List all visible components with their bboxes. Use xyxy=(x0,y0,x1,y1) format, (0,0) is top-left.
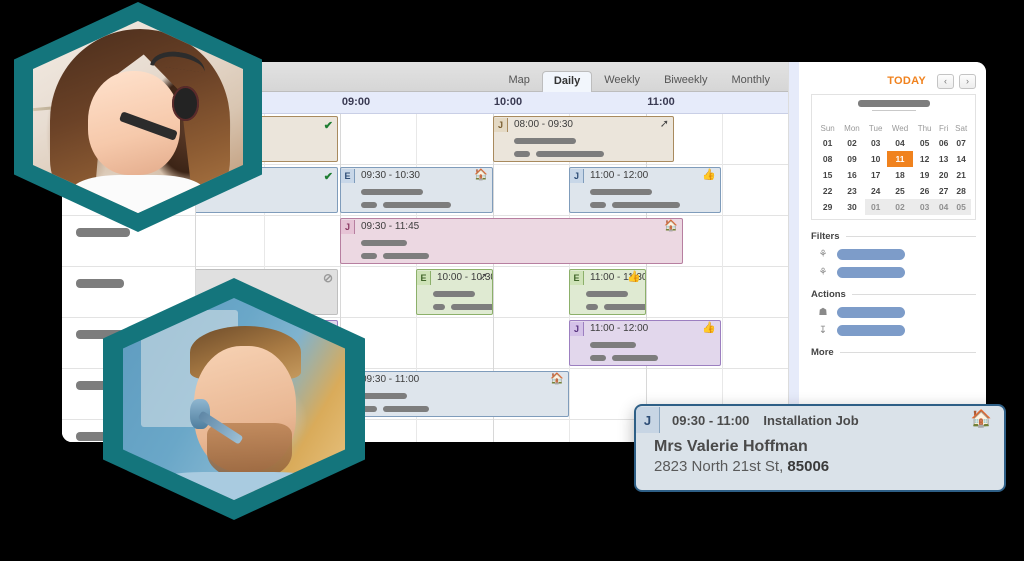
event-block[interactable]: J 08:00 - 09:30 ➚ xyxy=(493,116,674,162)
event-detail-redacted xyxy=(361,189,423,195)
download-icon: ↧ xyxy=(817,325,829,336)
month-label-redacted xyxy=(858,100,930,107)
print-icon: ☗ xyxy=(817,307,829,318)
job-detail-popup[interactable]: J 09:30 - 11:00 Installation Job 🏠 Mrs V… xyxy=(634,404,1006,492)
event-time: 09:30 - 11:45 xyxy=(361,221,419,232)
event-badge: J xyxy=(570,322,584,336)
event-detail-redacted xyxy=(586,291,628,297)
calendar-day[interactable]: 18 xyxy=(887,167,914,183)
event-detail-redacted xyxy=(361,202,377,208)
calendar-day[interactable]: 20 xyxy=(936,167,951,183)
calendar-day[interactable]: 28 xyxy=(951,183,971,199)
calendar-day[interactable]: 17 xyxy=(865,167,887,183)
event-detail-redacted xyxy=(383,406,429,412)
calendar-week-row: 22 23 24 25 26 27 28 xyxy=(816,183,971,199)
filters-section: Filters ⚘ ⚘ xyxy=(811,231,976,278)
more-section[interactable]: More xyxy=(811,347,976,358)
headset-earcup xyxy=(172,86,199,121)
event-block[interactable]: E 10:00 - 10:30 ➚ xyxy=(416,269,493,315)
event-badge: E xyxy=(417,271,431,285)
calendar-day[interactable]: 02 xyxy=(839,135,864,151)
event-detail-redacted xyxy=(361,393,407,399)
calendar-day[interactable]: 10 xyxy=(865,151,887,167)
calendar-month-title xyxy=(816,100,971,116)
calendar-day[interactable]: 04 xyxy=(887,135,914,151)
weekday-tue: Tue xyxy=(865,122,887,135)
weekday-thu: Thu xyxy=(913,122,936,135)
calendar-day-outside[interactable]: 05 xyxy=(951,199,971,215)
event-time: 11:00 - 12:00 xyxy=(590,170,648,181)
sidebar-accent-strip xyxy=(789,62,799,442)
weekday-sun: Sun xyxy=(816,122,839,135)
prev-month-button[interactable]: ‹ xyxy=(937,74,954,89)
event-time: 09:30 - 10:30 xyxy=(361,170,420,181)
grid-halfhour-line xyxy=(722,114,723,442)
action-label-redacted xyxy=(837,325,905,336)
event-detail-redacted xyxy=(536,151,604,157)
event-detail-redacted xyxy=(612,355,658,361)
event-badge: E xyxy=(570,271,584,285)
today-button[interactable]: TODAY xyxy=(887,75,926,87)
month-underline xyxy=(872,110,916,111)
event-detail-redacted xyxy=(383,253,429,259)
tab-weekly[interactable]: Weekly xyxy=(592,70,652,91)
calendar-day[interactable]: 27 xyxy=(936,183,951,199)
calendar-week-row: 01 02 03 04 05 06 07 xyxy=(816,135,971,151)
event-detail-redacted xyxy=(361,240,407,246)
home-icon: 🏠 xyxy=(550,373,564,386)
more-section-header: More xyxy=(811,347,976,358)
event-block[interactable]: J 09:30 - 11:45 🏠 xyxy=(340,218,683,264)
home-icon: 🏠 xyxy=(971,409,992,429)
tab-map[interactable]: Map xyxy=(496,70,541,91)
calendar-day[interactable]: 09 xyxy=(839,151,864,167)
calendar-day[interactable]: 29 xyxy=(816,199,839,215)
event-time: 11:00 - 12:00 xyxy=(590,323,648,334)
mini-calendar[interactable]: Sun Mon Tue Wed Thu Fri Sat 01 xyxy=(811,94,976,220)
popup-time: 09:30 - 11:00 xyxy=(672,413,749,428)
filter-item[interactable]: ⚘ xyxy=(811,249,976,260)
calendar-day-outside[interactable]: 01 xyxy=(865,199,887,215)
time-label-1000: 10:00 xyxy=(494,96,522,108)
event-detail-redacted xyxy=(451,304,493,310)
event-detail-redacted xyxy=(590,202,606,208)
event-detail-redacted xyxy=(590,189,652,195)
popup-badge: J xyxy=(636,407,660,433)
tab-monthly[interactable]: Monthly xyxy=(719,70,782,91)
calendar-week-row: 08 09 10 11 12 13 14 xyxy=(816,151,971,167)
actions-section-header: Actions xyxy=(811,289,976,300)
calendar-day[interactable]: 26 xyxy=(913,183,936,199)
filter-label-redacted xyxy=(837,249,905,260)
section-divider xyxy=(840,352,976,353)
popup-customer-name: Mrs Valerie Hoffman xyxy=(654,438,1004,456)
right-sidebar: TODAY ‹ › Sun Mon Tue xyxy=(788,62,986,442)
calendar-day[interactable]: 03 xyxy=(865,135,887,151)
time-label-1100: 11:00 xyxy=(647,96,675,108)
section-divider xyxy=(852,294,976,295)
event-block[interactable]: E 09:30 - 10:30 🏠 xyxy=(340,167,493,213)
action-label-redacted xyxy=(837,307,905,318)
calendar-day[interactable]: 01 xyxy=(816,135,839,151)
calendar-day[interactable]: 25 xyxy=(887,183,914,199)
calendar-day[interactable]: 13 xyxy=(936,151,951,167)
popup-header: J 09:30 - 11:00 Installation Job 🏠 xyxy=(636,406,1004,434)
thumbs-up-icon: 👍 xyxy=(627,271,641,284)
event-detail-redacted xyxy=(586,304,598,310)
calendar-day[interactable]: 23 xyxy=(839,183,864,199)
more-title: More xyxy=(811,347,834,358)
event-block[interactable]: J 11:00 - 12:00 👍 xyxy=(569,167,721,213)
action-item[interactable]: ☗ xyxy=(811,307,976,318)
event-detail-redacted xyxy=(514,138,576,144)
check-icon: ✔ xyxy=(324,170,333,183)
calendar-day[interactable]: 05 xyxy=(913,135,936,151)
event-badge: J xyxy=(494,118,508,132)
home-icon: 🏠 xyxy=(664,220,678,233)
event-detail-redacted xyxy=(604,304,646,310)
calendar-day[interactable]: 16 xyxy=(839,167,864,183)
navigation-arrow-icon: ➚ xyxy=(479,271,488,284)
event-detail-redacted xyxy=(590,342,636,348)
actions-section: Actions ☗ ↧ xyxy=(811,289,976,336)
event-detail-redacted xyxy=(612,202,680,208)
event-detail-redacted xyxy=(433,291,475,297)
filters-section-header: Filters xyxy=(811,231,976,242)
weekday-wed: Wed xyxy=(887,122,914,135)
event-block[interactable]: J 11:00 - 12:00 👍 xyxy=(569,320,721,366)
calendar-day[interactable]: 08 xyxy=(816,151,839,167)
event-block[interactable]: E 11:00 - 11:30 👍 xyxy=(569,269,646,315)
time-label-0900: 09:00 xyxy=(342,96,370,108)
filter-item[interactable]: ⚘ xyxy=(811,267,976,278)
thumbs-up-icon: 👍 xyxy=(702,322,716,335)
event-detail-redacted xyxy=(514,151,530,157)
event-detail-redacted xyxy=(433,304,445,310)
filter-label-redacted xyxy=(837,267,905,278)
calendar-week-row: 15 16 17 18 19 20 21 xyxy=(816,167,971,183)
home-icon: 🏠 xyxy=(474,169,488,182)
calendar-day[interactable]: 30 xyxy=(839,199,864,215)
calendar-day[interactable]: 12 xyxy=(913,151,936,167)
calendar-grid[interactable]: Sun Mon Tue Wed Thu Fri Sat 01 xyxy=(816,122,971,215)
calendar-day-outside[interactable]: 04 xyxy=(936,199,951,215)
event-detail-redacted xyxy=(361,253,377,259)
event-block[interactable]: J 09:30 - 11:00 🏠 xyxy=(340,371,569,417)
calendar-day[interactable]: 06 xyxy=(936,135,951,151)
tab-biweekly[interactable]: Biweekly xyxy=(652,70,719,91)
calendar-header: TODAY ‹ › xyxy=(811,68,976,94)
agent-avatar-hexagon-bottom xyxy=(103,278,365,520)
calendar-day-outside[interactable]: 03 xyxy=(913,199,936,215)
event-time: 09:30 - 11:00 xyxy=(361,374,419,385)
event-time: 08:00 - 09:30 xyxy=(514,119,573,130)
thumbs-up-icon: 👍 xyxy=(702,169,716,182)
popup-address-street: 2823 North 21st St, xyxy=(654,458,787,475)
next-month-button[interactable]: › xyxy=(959,74,976,89)
check-icon: ✔ xyxy=(324,119,333,132)
calendar-day[interactable]: 15 xyxy=(816,167,839,183)
event-detail-redacted xyxy=(590,355,606,361)
filter-pin-icon: ⚘ xyxy=(817,267,829,278)
calendar-day[interactable]: 21 xyxy=(951,167,971,183)
section-divider xyxy=(846,236,976,237)
actions-title: Actions xyxy=(811,289,846,300)
calendar-day[interactable]: 22 xyxy=(816,183,839,199)
weekday-mon: Mon xyxy=(839,122,864,135)
filters-title: Filters xyxy=(811,231,840,242)
calendar-day[interactable]: 19 xyxy=(913,167,936,183)
popup-address: 2823 North 21st St, 85006 xyxy=(654,458,1004,475)
calendar-day[interactable]: 07 xyxy=(951,135,971,151)
calendar-weekday-row: Sun Mon Tue Wed Thu Fri Sat xyxy=(816,122,971,135)
navigation-arrow-icon: ➚ xyxy=(660,118,669,131)
event-badge: J xyxy=(570,169,584,183)
calendar-day[interactable]: 14 xyxy=(951,151,971,167)
calendar-week-row: 29 30 01 02 03 04 05 xyxy=(816,199,971,215)
tab-daily[interactable]: Daily xyxy=(542,71,592,92)
calendar-day[interactable]: 24 xyxy=(865,183,887,199)
event-detail-redacted xyxy=(383,202,451,208)
action-item[interactable]: ↧ xyxy=(811,325,976,336)
calendar-day-outside[interactable]: 02 xyxy=(887,199,914,215)
popup-address-zip: 85006 xyxy=(787,458,829,475)
filter-pin-icon: ⚘ xyxy=(817,249,829,260)
event-badge: E xyxy=(341,169,355,183)
agent-avatar-hexagon-top xyxy=(14,2,262,232)
weekday-fri: Fri xyxy=(936,122,951,135)
calendar-day-today[interactable]: 11 xyxy=(887,151,914,167)
event-badge: J xyxy=(341,220,355,234)
weekday-sat: Sat xyxy=(951,122,971,135)
popup-job-type: Installation Job xyxy=(763,413,858,428)
grid-hour-line xyxy=(646,114,647,442)
